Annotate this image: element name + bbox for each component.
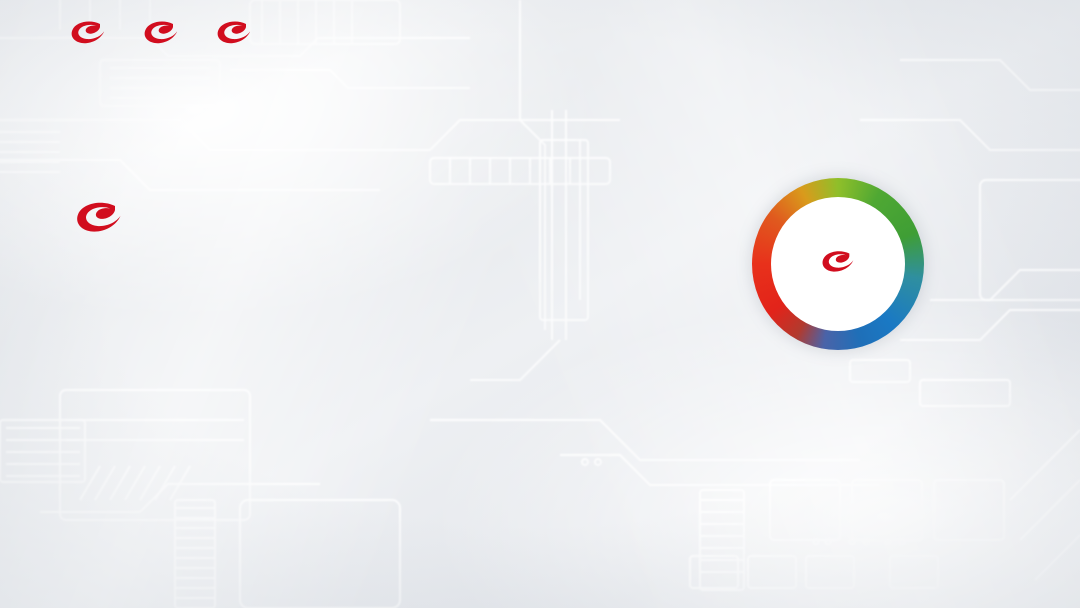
logo-digital-china[interactable] — [216, 20, 259, 51]
tech-digital-china-medallion — [752, 178, 924, 350]
dc-swoosh-icon — [143, 20, 179, 51]
headline-block — [74, 186, 146, 242]
event-subtitle — [74, 196, 146, 242]
medallion-inner-disc — [771, 197, 905, 331]
logo-dc-holdings[interactable] — [70, 20, 113, 51]
corporate-logo-bar — [70, 20, 259, 51]
dc-swoosh-icon — [75, 196, 123, 242]
logo-dcits[interactable] — [143, 20, 186, 51]
dc-swoosh-icon — [70, 20, 106, 51]
dc-swoosh-icon — [821, 248, 855, 279]
dc-swoosh-icon — [216, 20, 252, 51]
subtitle-tech-wordmark — [74, 196, 124, 242]
medallion-tech-wordmark — [821, 248, 855, 279]
poster-canvas — [0, 0, 1080, 608]
